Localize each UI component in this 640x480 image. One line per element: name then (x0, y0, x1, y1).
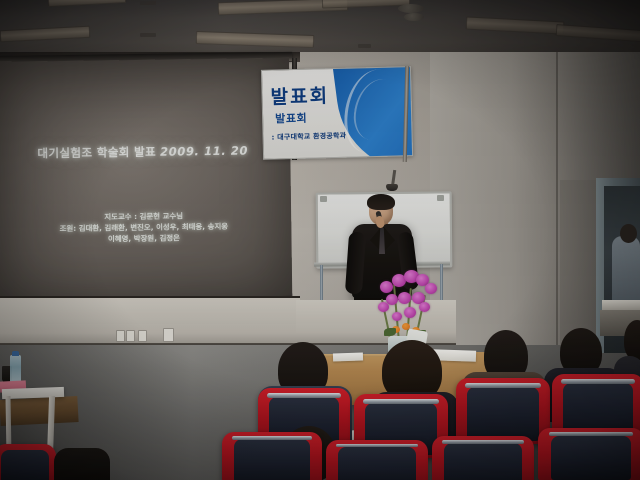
attendee-head (624, 320, 640, 360)
wood-rail (0, 396, 79, 426)
auditorium-chair (0, 444, 56, 480)
auditorium-chair (222, 432, 322, 480)
banner-department-line: : 대구대학교 환경공학과 (271, 131, 346, 143)
right-wall-shadow (560, 180, 600, 350)
ceiling-shading (0, 0, 640, 60)
person-in-doorway-head (620, 224, 637, 243)
power-outlet[interactable] (138, 330, 147, 342)
white-papers (333, 352, 363, 361)
wall-lamp-head (386, 184, 398, 191)
auditorium-chair (326, 440, 428, 480)
orchid-flower (404, 307, 416, 318)
chair-pad (1, 450, 48, 480)
presenter-hair (367, 194, 395, 210)
attendee-body (54, 448, 110, 480)
projection-screen: 대기실험조 학술회 발표2009. 11. 20 지도교수 : 김문현 교수님 … (0, 58, 292, 305)
whiteboard-corner-clip (437, 195, 444, 201)
water-bottle-cap (12, 351, 19, 356)
auditorium-chair (538, 428, 640, 480)
whiteboard-corner-clip (320, 196, 327, 202)
banner-container: 발표회 발표회 : 대구대학교 환경공학과 (261, 66, 411, 158)
banner-swoosh-graphic (331, 66, 413, 160)
doorway-counter-top (602, 300, 640, 310)
projector-glow (0, 58, 292, 305)
power-outlet[interactable] (126, 330, 135, 342)
chair-chrome-trim (336, 444, 418, 447)
banner-headline: 발표회 (270, 81, 329, 109)
chair-pad (338, 447, 416, 480)
person-in-doorway (612, 236, 640, 302)
wainscot-panel-right (296, 300, 456, 346)
event-banner: 발표회 발표회 : 대구대학교 환경공학과 (261, 66, 413, 160)
chair-pad (551, 436, 632, 480)
slide-title-text: 대기실험조 학술회 발표 (37, 145, 156, 161)
chair-chrome-trim (363, 399, 438, 403)
orchid-flower (419, 302, 430, 312)
chair-chrome-trim (442, 440, 524, 444)
chair-chrome-trim (561, 379, 635, 384)
orchid-flower (425, 283, 437, 294)
auditorium-chair (456, 378, 550, 444)
chair-pad (467, 387, 538, 441)
chair-chrome-trim (267, 393, 341, 397)
chair-chrome-trim (549, 432, 634, 436)
seminar-room-photo: 대기실험조 학술회 발표2009. 11. 20 지도교수 : 김문현 교수님 … (0, 0, 640, 480)
wainscot-panel-left (0, 298, 300, 348)
chair-chrome-trim (232, 436, 312, 440)
foliage-leaf (384, 328, 396, 336)
auditorium-chair (432, 436, 534, 480)
power-outlet[interactable] (116, 330, 125, 342)
orchid-flower (378, 302, 389, 312)
power-outlet[interactable] (163, 328, 174, 342)
orchid-flower (380, 281, 393, 293)
slide-title-date: 2009. 11. 20 (160, 143, 248, 158)
chair-pad (444, 443, 522, 480)
orchid-flower (398, 292, 411, 304)
chair-pad (234, 439, 310, 480)
chair-chrome-trim (465, 383, 540, 388)
banner-subline: 발표회 (275, 110, 308, 127)
orchid-flower (392, 312, 402, 321)
